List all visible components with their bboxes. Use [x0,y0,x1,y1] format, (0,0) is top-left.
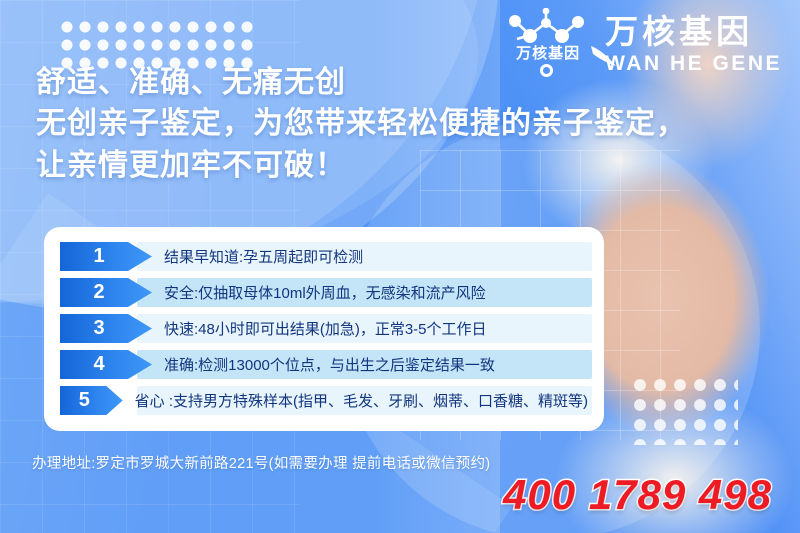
headline-line-3: 让亲情更加牢不可破！ [36,145,687,186]
brand-name-cn: 万核基因 [605,15,782,48]
address-text: 办理地址:罗定市罗城大新前路221号(如需要办理 提前电话或微信预约) [32,452,490,473]
feature-row: 2安全:仅抽取母体10ml外周血，无感染和流产风险 [60,276,588,309]
features-card: 1结果早知道:孕五周起即可检测2安全:仅抽取母体10ml外周血，无感染和流产风险… [44,227,604,431]
feature-text: 省心 :支持男方特殊样本(指甲、毛发、牙刷、烟蒂、口香糖、精斑等) [135,390,588,411]
feature-row: 3快速:48小时即可出结果(加急)，正常3-5个工作日 [60,312,588,345]
dot-pattern-bottom [630,375,738,445]
feature-text: 准确:检测13000个位点，与出生之后鉴定结果一致 [164,354,495,375]
logo-mark-label: 万核基因 [503,42,593,63]
hotline-phone-number: 400 1789 498 [503,471,772,519]
features-list: 1结果早知道:孕五周起即可检测2安全:仅抽取母体10ml外周血，无感染和流产风险… [60,240,588,420]
headline-block: 舒适、准确、无痛无创 无创亲子鉴定，为您带来轻松便捷的亲子鉴定， 让亲情更加牢不… [36,62,687,186]
feature-text: 安全:仅抽取母体10ml外周血，无感染和流产风险 [164,282,486,303]
feature-row: 5省心 :支持男方特殊样本(指甲、毛发、牙刷、烟蒂、口香糖、精斑等) [60,384,588,417]
feature-text: 结果早知道:孕五周起即可检测 [164,246,363,267]
headline-line-1: 舒适、准确、无痛无创 [36,62,687,103]
promo-poster: 万核基因 万核基因 WAN HE GENE 舒适、准确、无痛无创 无创亲子鉴定，… [0,0,800,533]
feature-number-badge: 5 [60,386,123,415]
feature-text: 快速:48小时即可出结果(加急)，正常3-5个工作日 [164,318,487,339]
headline-line-2: 无创亲子鉴定，为您带来轻松便捷的亲子鉴定， [36,103,687,144]
feature-row: 1结果早知道:孕五周起即可检测 [60,240,588,273]
feature-row: 4准确:检测13000个位点，与出生之后鉴定结果一致 [60,348,588,381]
